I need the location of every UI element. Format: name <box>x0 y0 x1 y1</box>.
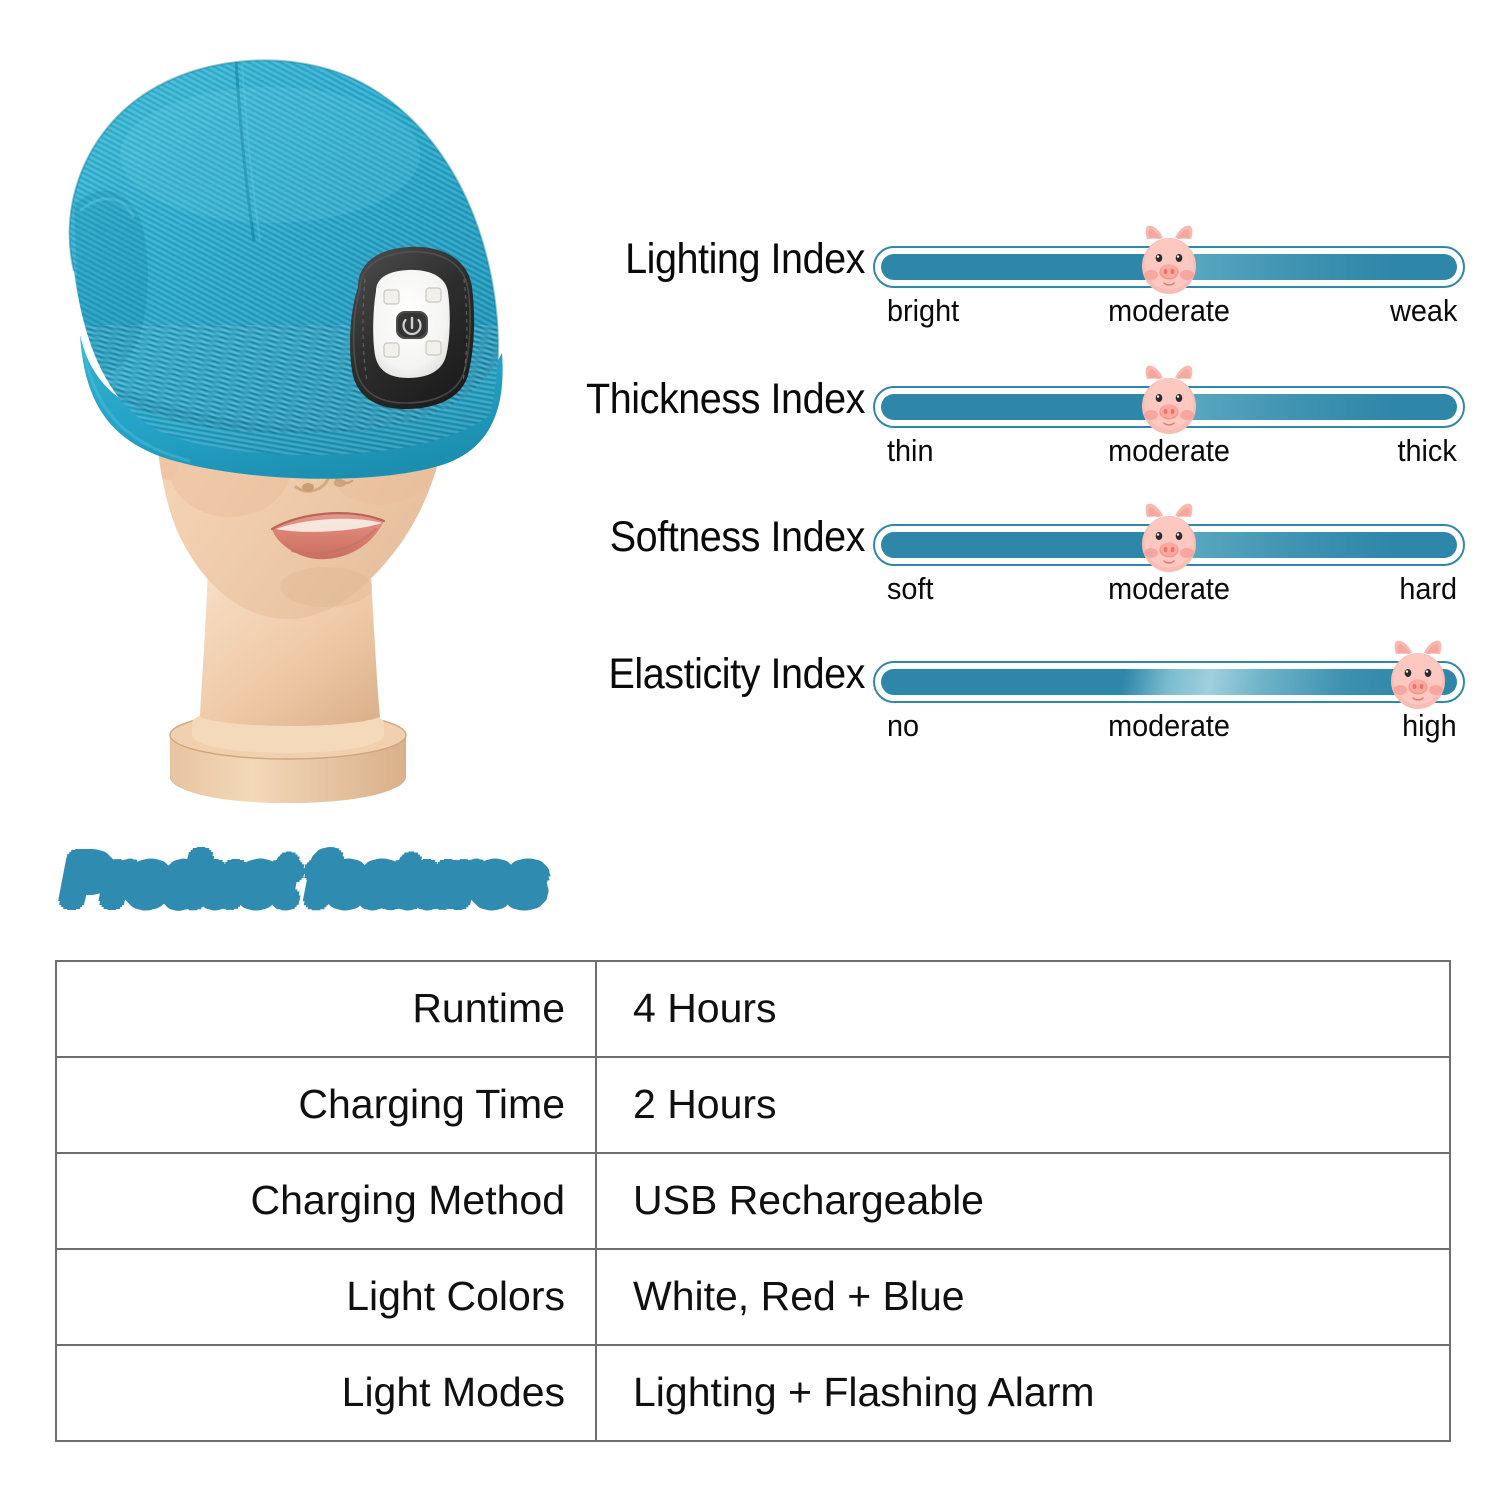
scale-label-low: no <box>887 707 919 746</box>
scale-label-mid: moderate <box>1108 707 1230 746</box>
index-row-lighting: Lighting Index <box>545 230 1465 340</box>
product-features-table: Runtime 4 Hours Charging Time 2 Hours Ch… <box>55 960 1451 1442</box>
scale-labels: no moderate high <box>873 707 1465 751</box>
slider-softness[interactable]: soft moderate hard <box>873 508 1465 616</box>
spec-value: USB Rechargeable <box>596 1153 1450 1249</box>
spec-value: 2 Hours <box>596 1057 1450 1153</box>
index-label-thickness: Thickness Index <box>571 378 865 421</box>
spec-value: Lighting + Flashing Alarm <box>596 1345 1450 1441</box>
scale-label-mid: moderate <box>1108 432 1230 471</box>
slider-elasticity[interactable]: no moderate high <box>873 645 1465 753</box>
led-headlamp-module <box>350 247 474 409</box>
scale-label-high: high <box>1402 707 1457 746</box>
scale-label-low: thin <box>887 432 933 471</box>
spec-value: White, Red + Blue <box>596 1249 1450 1345</box>
index-sliders-panel: Lighting Index <box>545 230 1465 770</box>
index-row-elasticity: Elasticity Index <box>545 645 1465 755</box>
slider-track <box>873 661 1465 703</box>
scale-label-high: thick <box>1398 432 1457 471</box>
index-label-softness: Softness Index <box>571 516 865 559</box>
index-row-thickness: Thickness Index <box>545 370 1465 480</box>
spec-key: Light Modes <box>56 1345 596 1441</box>
beanie-on-mannequin-illustration <box>40 35 540 825</box>
product-infographic: Lighting Index <box>0 0 1500 1500</box>
scale-label-mid: moderate <box>1108 570 1230 609</box>
product-features-title: Product features <box>66 850 543 912</box>
table-row: Light Modes Lighting + Flashing Alarm <box>56 1345 1450 1441</box>
scale-label-low: bright <box>887 292 959 331</box>
scale-labels: thin moderate thick <box>873 432 1465 476</box>
index-row-softness: Softness Index <box>545 508 1465 618</box>
scale-labels: soft moderate hard <box>873 570 1465 614</box>
slider-thickness[interactable]: thin moderate thick <box>873 370 1465 478</box>
spec-key: Charging Method <box>56 1153 596 1249</box>
product-photo <box>40 35 540 825</box>
power-button-icon <box>396 311 428 339</box>
spec-value: 4 Hours <box>596 961 1450 1057</box>
index-label-elasticity: Elasticity Index <box>571 653 865 696</box>
table-row: Runtime 4 Hours <box>56 961 1450 1057</box>
scale-label-low: soft <box>887 570 933 609</box>
slider-lighting[interactable]: bright moderate weak <box>873 230 1465 338</box>
spec-key: Runtime <box>56 961 596 1057</box>
table-row: Charging Method USB Rechargeable <box>56 1153 1450 1249</box>
table-row: Charging Time 2 Hours <box>56 1057 1450 1153</box>
scale-label-high: weak <box>1390 292 1457 331</box>
scale-label-high: hard <box>1399 570 1457 609</box>
scale-label-mid: moderate <box>1108 292 1230 331</box>
scale-labels: bright moderate weak <box>873 292 1465 336</box>
spec-key: Charging Time <box>56 1057 596 1153</box>
index-label-lighting: Lighting Index <box>571 238 865 281</box>
spec-key: Light Colors <box>56 1249 596 1345</box>
slider-fill <box>881 669 1457 695</box>
table-row: Light Colors White, Red + Blue <box>56 1249 1450 1345</box>
